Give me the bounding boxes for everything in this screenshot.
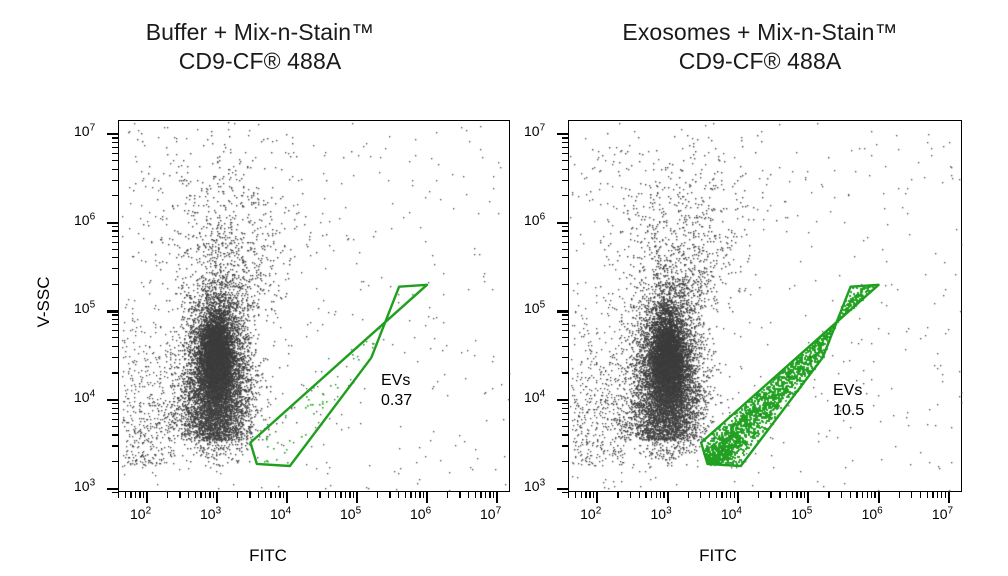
scatter-canvas-exosomes [569, 121, 963, 493]
axis-tick [356, 492, 358, 503]
y-tick-label: 106 [524, 212, 545, 228]
axis-tick [557, 222, 568, 224]
y-tick-label: 107 [524, 123, 545, 139]
x-tick-label: 105 [791, 506, 812, 522]
axis-tick [286, 492, 288, 503]
gate-label-exosomes: EVs 10.5 [833, 381, 864, 421]
axis-tick [107, 399, 118, 401]
axis-tick [146, 492, 148, 503]
x-axis-title-left: FITC [168, 546, 368, 566]
x-tick-label: 105 [340, 506, 361, 522]
axis-tick [878, 492, 880, 503]
x-tick-label: 102 [580, 506, 601, 522]
axis-tick [807, 492, 809, 503]
axis-tick [557, 133, 568, 135]
axis-tick [948, 492, 950, 503]
x-tick-label: 106 [410, 506, 431, 522]
panel-title-exosomes: Exosomes + Mix-n-Stain™ CD9-CF® 488A [510, 18, 1008, 76]
axis-tick [107, 133, 118, 135]
x-tick-label: 103 [200, 506, 221, 522]
y-tick-label: 107 [74, 123, 95, 139]
y-tick-label: 103 [524, 478, 545, 494]
x-tick-label: 106 [862, 506, 883, 522]
gate-label-buffer: EVs 0.37 [381, 371, 412, 411]
axis-tick [426, 492, 428, 503]
axis-tick [557, 310, 568, 312]
axis-tick [557, 488, 568, 490]
y-axis-title-left: V-SSC [34, 252, 54, 352]
axis-tick [107, 310, 118, 312]
y-tick-label: 104 [524, 389, 545, 405]
axis-tick [557, 399, 568, 401]
x-tick-label: 107 [932, 506, 953, 522]
y-tick-label: 105 [524, 300, 545, 316]
axis-tick [737, 492, 739, 503]
x-tick-label: 104 [721, 506, 742, 522]
y-tick-label: 103 [74, 478, 95, 494]
x-tick-label: 103 [651, 506, 672, 522]
panel-exosomes: Exosomes + Mix-n-Stain™ CD9-CF® 488A FIT… [450, 0, 1008, 576]
x-tick-label: 104 [270, 506, 291, 522]
axis-tick [596, 492, 598, 503]
panel-title-buffer: Buffer + Mix-n-Stain™ CD9-CF® 488A [0, 18, 520, 76]
axis-tick [107, 222, 118, 224]
y-tick-label: 106 [74, 212, 95, 228]
x-axis-title-right: FITC [618, 546, 818, 566]
y-tick-label: 104 [74, 389, 95, 405]
axis-tick [216, 492, 218, 503]
x-tick-label: 102 [130, 506, 151, 522]
axis-tick [107, 488, 118, 490]
y-tick-label: 105 [74, 300, 95, 316]
plot-area-exosomes [568, 120, 962, 492]
flow-cytometry-figure: Buffer + Mix-n-Stain™ CD9-CF® 488A V-SSC… [0, 0, 1008, 576]
axis-tick [667, 492, 669, 503]
panel-buffer: Buffer + Mix-n-Stain™ CD9-CF® 488A V-SSC… [0, 0, 520, 576]
